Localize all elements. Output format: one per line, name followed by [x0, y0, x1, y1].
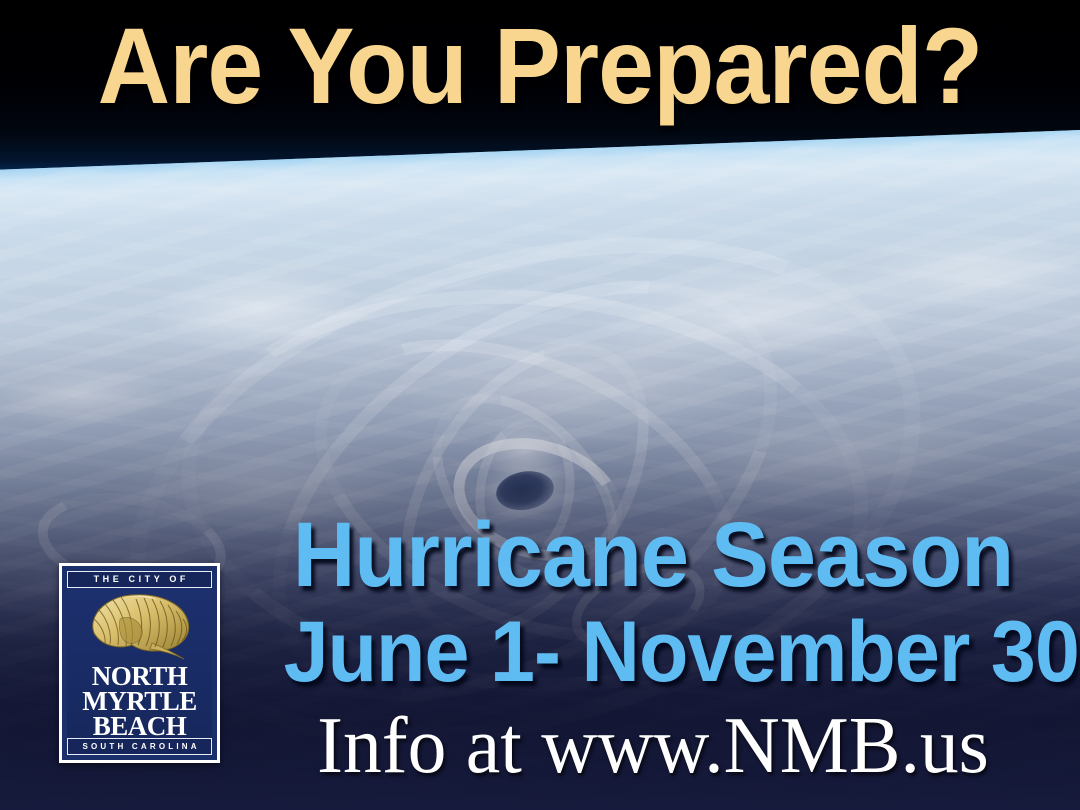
logo-city-line-3: BEACH [67, 714, 212, 740]
conch-shell-icon [76, 589, 204, 663]
page-title: Are You Prepared? [38, 4, 1042, 128]
hurricane-season-poster: Are You Prepared? THE CITY OF [0, 0, 1080, 810]
season-dates: June 1- November 30 [284, 605, 1023, 699]
city-logo: THE CITY OF [59, 563, 220, 763]
logo-city-name: NORTH MYRTLE BEACH [67, 664, 212, 738]
announcement-text-block: Hurricane Season June 1- November 30 Inf… [260, 505, 1046, 789]
city-logo-inner: THE CITY OF [67, 571, 212, 755]
logo-top-banner: THE CITY OF [67, 571, 212, 588]
season-headline: Hurricane Season [284, 505, 1023, 605]
logo-emblem-area [67, 588, 212, 666]
logo-bottom-banner: SOUTH CAROLINA [67, 738, 212, 755]
logo-bottom-text: SOUTH CAROLINA [79, 743, 199, 751]
info-website-line: Info at www.NMB.us [272, 703, 1034, 789]
logo-top-text: THE CITY OF [90, 575, 189, 584]
